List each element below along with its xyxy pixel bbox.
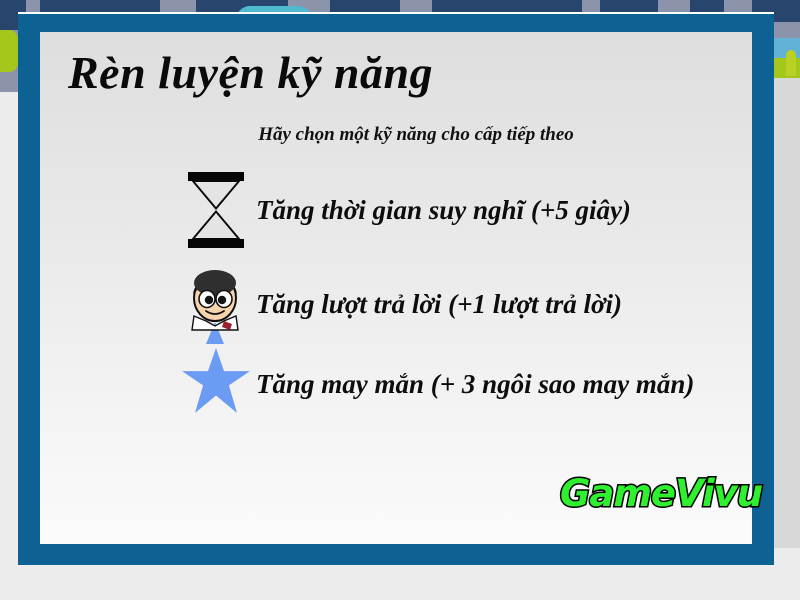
boy-face-icon [180, 264, 250, 344]
skill-option-label: Tăng thời gian suy nghĩ (+5 giây) [256, 195, 631, 226]
blue-star-icon [180, 344, 250, 424]
skill-selection-panel: Rèn luyện kỹ năng Hãy chọn một kỹ năng c… [40, 32, 752, 544]
gamevivu-logo: GameVivu [560, 472, 760, 515]
game-dialog-frame: Rèn luyện kỹ năng Hãy chọn một kỹ năng c… [18, 12, 774, 565]
skill-option-think-time[interactable]: Tăng thời gian suy nghĩ (+5 giây) [180, 170, 631, 250]
backdrop-green-leaf-right [786, 50, 796, 76]
page-title: Rèn luyện kỹ năng [68, 46, 433, 99]
skill-option-label: Tăng may mắn (+ 3 ngôi sao may mắn) [256, 369, 694, 400]
backdrop-green-tile-left [0, 30, 18, 72]
skill-option-label: Tăng lượt trả lời (+1 lượt trả lời) [256, 289, 622, 320]
hourglass-icon [180, 170, 250, 250]
skill-option-luck[interactable]: Tăng may mắn (+ 3 ngôi sao may mắn) [180, 344, 694, 424]
skill-option-extra-answer[interactable]: Tăng lượt trả lời (+1 lượt trả lời) [180, 264, 622, 344]
page-subtitle: Hãy chọn một kỹ năng cho cấp tiếp theo [40, 124, 752, 146]
